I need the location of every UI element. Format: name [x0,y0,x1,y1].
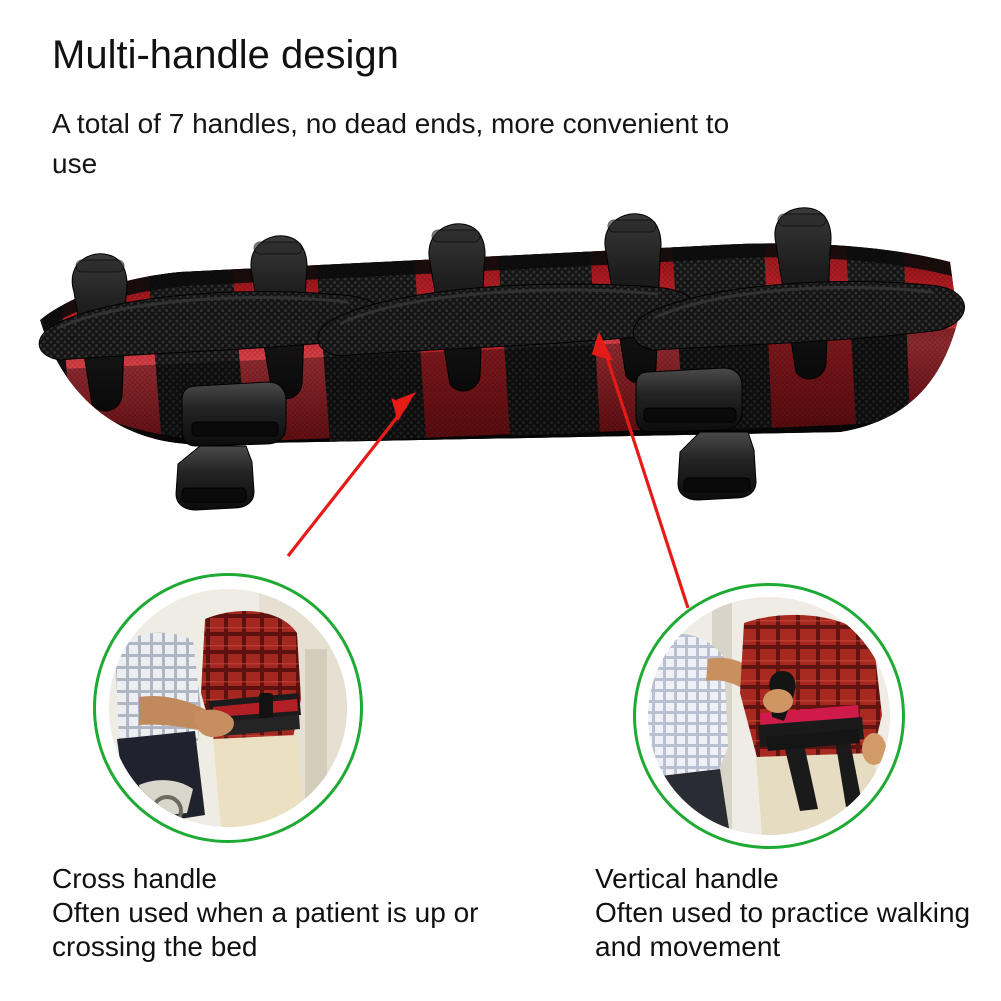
callout-photo-cross-handle [109,589,347,827]
caption-vertical-handle: Vertical handle Often used to practice w… [595,861,1001,964]
infographic-page: Multi-handle design A total of 7 handles… [0,0,1001,1001]
belt-body [0,200,1001,540]
callout-circle-cross-handle [93,573,363,843]
caption-body: Often used to practice walking and movem… [595,896,1001,964]
caption-body: Often used when a patient is up or cross… [52,896,552,964]
callout-photo-vertical-handle [648,597,890,835]
buckle-left [176,382,286,510]
product-image [0,200,1001,540]
caption-cross-handle: Cross handle Often used when a patient i… [52,861,552,964]
caption-title: Vertical handle [595,861,1001,896]
callout-circle-vertical-handle [633,583,905,849]
caption-title: Cross handle [52,861,552,896]
page-title: Multi-handle design [52,33,399,77]
page-subtitle: A total of 7 handles, no dead ends, more… [52,104,752,184]
